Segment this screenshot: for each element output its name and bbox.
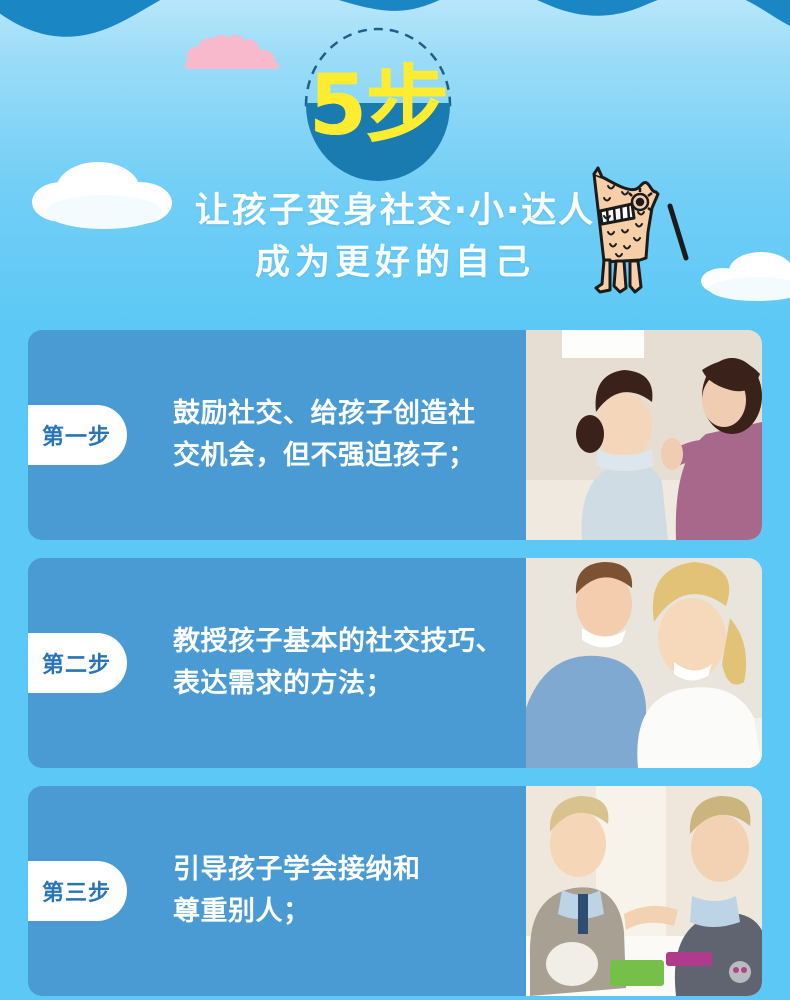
header-banner: 5步 让孩子变身社交·小·达人 成为更好的自己 [0, 0, 790, 330]
step-text-3-line-2: 尊重别人； [173, 891, 528, 933]
step-text-2-line-2: 表达需求的方法； [173, 663, 528, 705]
step-badge-3: 第三步 [28, 861, 127, 921]
step-card-1[interactable]: 第一步 鼓励社交、给孩子创造社 交机会，但不强迫孩子； [28, 330, 762, 540]
five-steps-badge-label: 5步 [300, 23, 456, 186]
step-text-2-line-1: 教授孩子基本的社交技巧、 [173, 621, 528, 663]
step-photo-1 [526, 330, 762, 540]
step-card-2-body: 第二步 教授孩子基本的社交技巧、 表达需求的方法； [28, 558, 528, 768]
step-badge-1: 第一步 [28, 405, 127, 465]
pink-cloud-decoration [183, 34, 285, 70]
step-text-1-line-2: 交机会，但不强迫孩子； [173, 435, 528, 477]
steps-list: 第一步 鼓励社交、给孩子创造社 交机会，但不强迫孩子； [0, 330, 790, 1000]
step-text-3-line-1: 引导孩子学会接纳和 [173, 849, 528, 891]
step-text-1: 鼓励社交、给孩子创造社 交机会，但不强迫孩子； [173, 393, 528, 477]
step-text-1-line-1: 鼓励社交、给孩子创造社 [173, 393, 528, 435]
dog-mascot-icon [578, 166, 703, 301]
step-card-2[interactable]: 第二步 教授孩子基本的社交技巧、 表达需求的方法； [28, 558, 762, 768]
step-badge-2: 第二步 [28, 633, 127, 693]
step-text-2: 教授孩子基本的社交技巧、 表达需求的方法； [173, 621, 528, 705]
step-card-3-body: 第三步 引导孩子学会接纳和 尊重别人； [28, 786, 528, 996]
step-card-3[interactable]: 第三步 引导孩子学会接纳和 尊重别人； [28, 786, 762, 996]
step-photo-3 [526, 786, 762, 996]
infographic-page: 5步 让孩子变身社交·小·达人 成为更好的自己 [0, 0, 790, 1000]
step-photo-2 [526, 558, 762, 768]
step-card-1-body: 第一步 鼓励社交、给孩子创造社 交机会，但不强迫孩子； [28, 330, 528, 540]
step-text-3: 引导孩子学会接纳和 尊重别人； [173, 849, 528, 933]
